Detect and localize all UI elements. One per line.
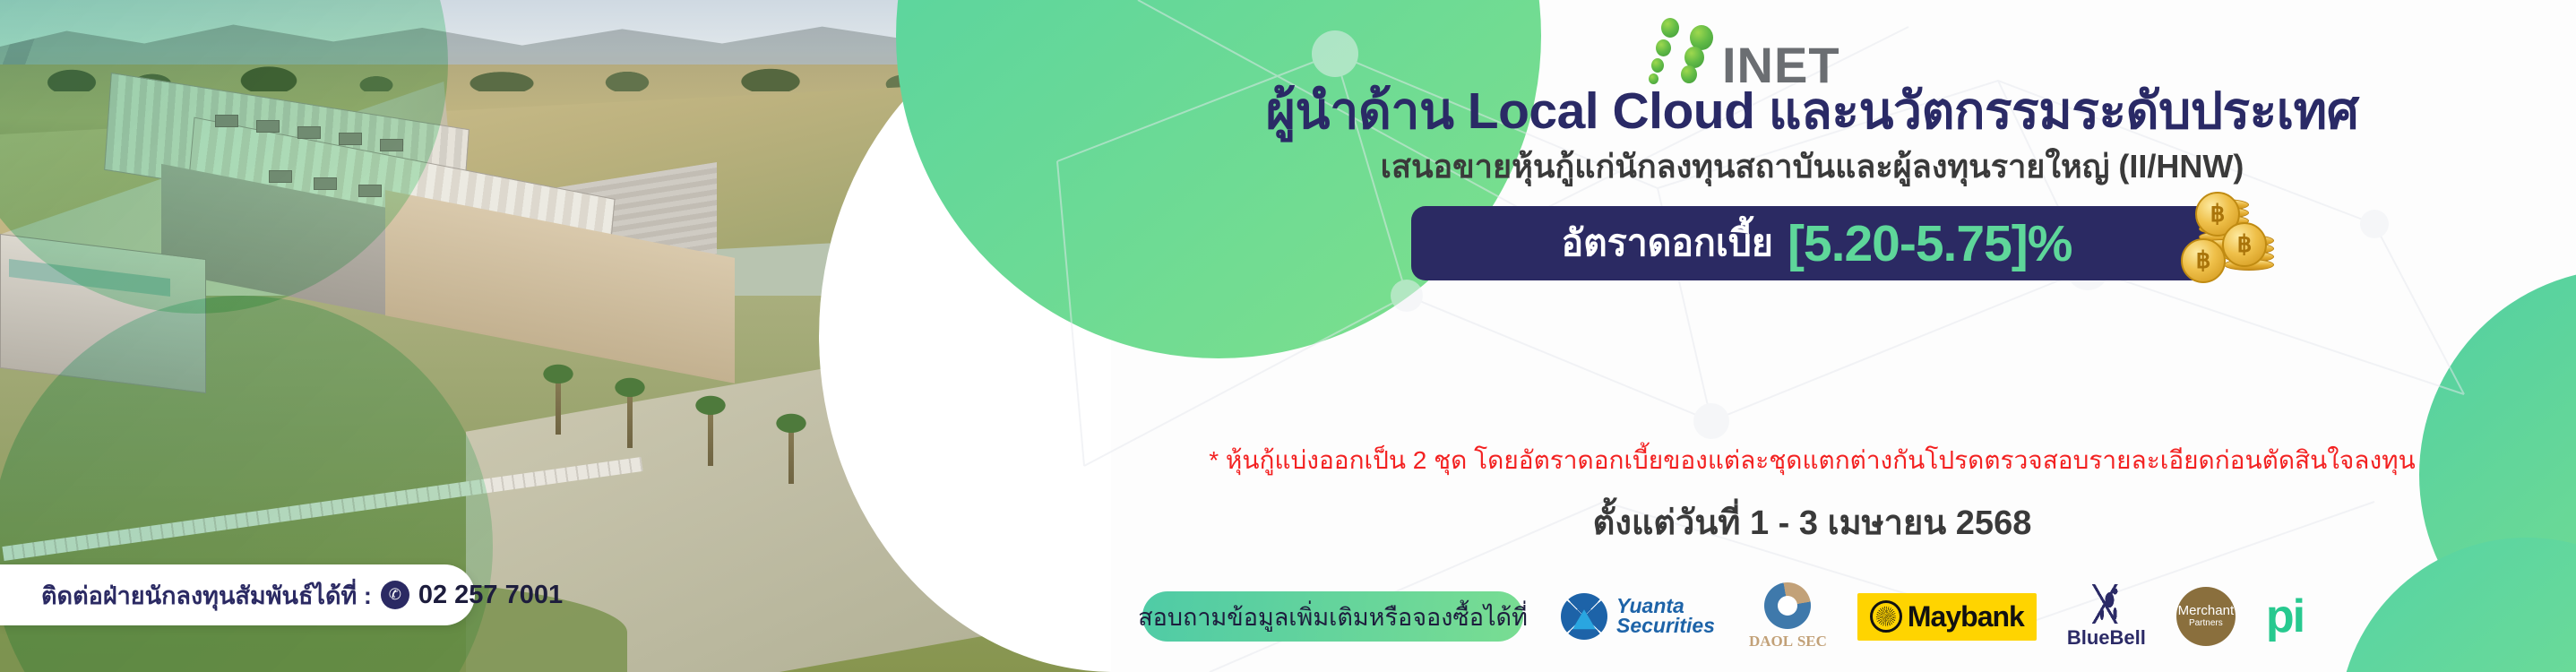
- bitcoin-coin-stack-icon: ฿ ฿ ฿: [2175, 199, 2272, 285]
- contact-label: ติดต่อฝ่ายนักลงทุนสัมพันธ์ได้ที่ :: [41, 576, 372, 615]
- maybank-wordmark: Maybank: [1908, 600, 2024, 633]
- page-subtitle: เสนอขายหุ้นกู้แก่นักลงทุนสถาบันและผู้ลงท…: [1048, 151, 2576, 183]
- daol-line2: SEC: [1797, 633, 1827, 650]
- inet-dot-icon: [1656, 39, 1671, 56]
- broker-maybank[interactable]: Maybank: [1857, 581, 2037, 652]
- daol-logo-icon: [1764, 582, 1811, 629]
- offering-dates: ตั้งแต่วันที่ 1 - 3 เมษายน 2568: [1048, 495, 2576, 549]
- photo-palm-tree: [788, 421, 794, 484]
- yuanta-line2: Securities: [1616, 614, 1715, 637]
- merchant-line1: Merchant: [2178, 604, 2235, 617]
- broker-merchant-partners[interactable]: Merchant Partners: [2176, 581, 2236, 652]
- broker-pi[interactable]: pi: [2266, 581, 2304, 652]
- maybank-tiger-icon: [1870, 600, 1902, 633]
- interest-rate-label: อัตราดอกเบี้ย: [1562, 214, 1773, 272]
- merchant-partners-icon: Merchant Partners: [2176, 587, 2236, 646]
- banner-content: INET ผู้นำด้าน Local Cloud และนวัตกรรมระ…: [1048, 0, 2576, 672]
- daol-line1: DAOL: [1749, 633, 1793, 650]
- daol-wordmark: DAOL SEC: [1749, 633, 1827, 650]
- contact-phone-number: 02 257 7001: [418, 581, 563, 610]
- bottom-row: สอบถามข้อมูลเพิ่มเติมหรือจองซื้อได้ที่ Y…: [1048, 581, 2576, 652]
- bluebell-deer-icon: [2091, 584, 2122, 624]
- inet-logo: INET: [1622, 16, 1926, 79]
- disclaimer-note: * หุ้นกู้แบ่งออกเป็น 2 ชุด โดยอัตราดอกเบ…: [1048, 441, 2576, 480]
- investor-relations-contact[interactable]: ติดต่อฝ่ายนักลงทุนสัมพันธ์ได้ที่ : ✆ 02 …: [0, 564, 475, 625]
- pi-logo-icon: pi: [2266, 590, 2304, 643]
- inet-dot-icon: [1661, 18, 1679, 38]
- broker-logo-list: Yuanta Securities DAOL SEC Maybank: [1561, 581, 2304, 652]
- promotional-banner: INET ผู้นำด้าน Local Cloud และนวัตกรรมระ…: [0, 0, 2576, 672]
- photo-palm-tree: [556, 372, 561, 435]
- bluebell-wordmark: BlueBell: [2067, 626, 2146, 650]
- broker-bluebell[interactable]: BlueBell: [2067, 581, 2146, 652]
- phone-icon: ✆: [381, 581, 409, 609]
- maybank-badge: Maybank: [1857, 593, 2037, 641]
- inet-dot-icon: [1651, 58, 1664, 73]
- interest-rate-box: อัตราดอกเบี้ย [5.20-5.75]%: [1411, 206, 2222, 280]
- page-title: ผู้นำด้าน Local Cloud และนวัตกรรมระดับปร…: [1048, 86, 2576, 137]
- inet-dot-icon: [1681, 65, 1697, 83]
- broker-daol[interactable]: DAOL SEC: [1749, 581, 1827, 652]
- interest-rate-value: [5.20-5.75]%: [1788, 214, 2072, 273]
- broker-yuanta[interactable]: Yuanta Securities: [1561, 581, 1715, 652]
- yuanta-wordmark: Yuanta Securities: [1616, 597, 1715, 636]
- yuanta-logo-icon: [1561, 593, 1607, 640]
- photo-palm-tree: [627, 385, 633, 448]
- cta-button[interactable]: สอบถามข้อมูลเพิ่มเติมหรือจองซื้อได้ที่: [1142, 591, 1523, 642]
- photo-palm-tree: [708, 403, 713, 466]
- merchant-line2: Partners: [2189, 617, 2223, 629]
